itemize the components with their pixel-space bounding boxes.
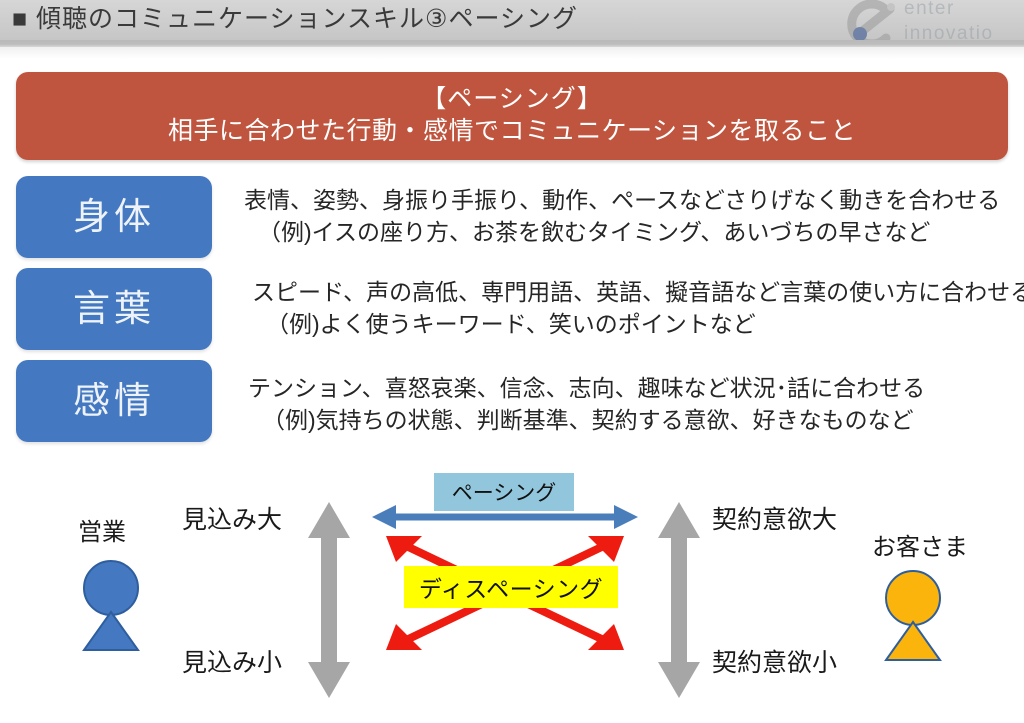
logo-line-1: enter	[904, 0, 994, 21]
pacing-definition-banner: 【ペーシング】 相手に合わせた行動・感情でコミュニケーションを取ること	[16, 72, 1008, 160]
page-title: ■ 傾聴のコミュニケーションスキル③ペーシング	[12, 1, 578, 37]
logo-line-2: innovatio	[904, 21, 994, 40]
customer-person-label: お客さま	[872, 527, 968, 562]
slide-header-bar: ■ 傾聴のコミュニケーションスキル③ペーシング enter innovatio	[0, 0, 1024, 40]
banner-subtitle: 相手に合わせた行動・感情でコミュニケーションを取ること	[168, 114, 856, 148]
dispacing-tag: ディスペーシング	[404, 566, 618, 608]
left-scale-top-label: 見込み大	[182, 500, 282, 536]
category-label: 身体	[73, 195, 155, 239]
category-row-words: 言葉 スピード、声の高低、専門用語、英語、擬音語など言葉の使い方に合わせる （例…	[0, 268, 1024, 352]
category-description-words: スピード、声の高低、専門用語、英語、擬音語など言葉の使い方に合わせる （例)よく…	[252, 276, 1022, 340]
right-scale-top-label: 契約意欲大	[712, 500, 837, 536]
category-box-emotion: 感情	[16, 360, 212, 442]
description-line-1: テンション、喜怒哀楽、信念、志向、趣味など状況･話に合わせる	[248, 372, 1018, 404]
pacing-tag-label: ペーシング	[452, 477, 557, 507]
description-line-2: （例)イスの座り方、お茶を飲むタイミング、あいづちの早さなど	[244, 216, 1014, 248]
category-box-words: 言葉	[16, 268, 212, 350]
salesperson-icon	[76, 555, 146, 655]
slide-canvas: ■ 傾聴のコミュニケーションスキル③ペーシング enter innovatio …	[0, 0, 1024, 723]
pacing-diagram: 営業 お客さま 見込み大 見込み小 契約意欲大 契約意欲小	[0, 455, 1024, 723]
header-shadow	[0, 47, 1024, 59]
left-scale-bottom-label: 見込み小	[182, 643, 282, 679]
category-row-body: 身体 表情、姿勢、身振り手振り、動作、ペースなどさりげなく動きを合わせる （例)…	[0, 176, 1024, 260]
category-label: 感情	[73, 379, 155, 423]
description-line-1: スピード、声の高低、専門用語、英語、擬音語など言葉の使い方に合わせる	[252, 276, 1022, 308]
right-scale-bottom-label: 契約意欲小	[712, 643, 837, 679]
logo-wordmark: enter innovatio	[904, 0, 994, 40]
left-double-arrow-vertical-icon	[305, 500, 353, 700]
customer-icon	[878, 565, 948, 665]
banner-title: 【ペーシング】	[421, 84, 603, 114]
description-line-2: （例)気持ちの状態、判断基準、契約する意欲、好きなものなど	[248, 404, 1018, 436]
category-description-emotion: テンション、喜怒哀楽、信念、志向、趣味など状況･話に合わせる （例)気持ちの状態…	[248, 372, 1018, 436]
category-description-body: 表情、姿勢、身振り手振り、動作、ペースなどさりげなく動きを合わせる （例)イスの…	[244, 184, 1014, 248]
category-label: 言葉	[73, 287, 155, 331]
category-row-emotion: 感情 テンション、喜怒哀楽、信念、志向、趣味など状況･話に合わせる （例)気持ち…	[0, 360, 1024, 444]
description-line-2: （例)よく使うキーワード、笑いのポイントなど	[252, 308, 1022, 340]
dispacing-tag-label: ディスペーシング	[419, 570, 603, 604]
enter-innovation-logo: enter innovatio	[834, 0, 1024, 40]
header-divider	[0, 40, 1024, 47]
category-box-body: 身体	[16, 176, 212, 258]
pacing-tag: ペーシング	[434, 473, 574, 511]
description-line-1: 表情、姿勢、身振り手振り、動作、ペースなどさりげなく動きを合わせる	[244, 184, 1014, 216]
left-person-label: 営業	[78, 512, 126, 547]
right-double-arrow-vertical-icon	[655, 500, 703, 700]
